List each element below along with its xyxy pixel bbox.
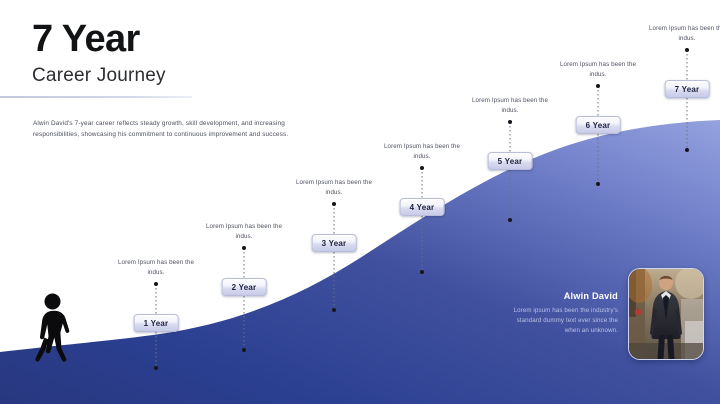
milestone-stem <box>598 86 599 184</box>
milestone-dot-top <box>332 202 336 206</box>
header-block: 7 Year Career Journey <box>32 20 372 85</box>
milestone-3[interactable]: Lorem Ipsum has been the indus. 3 Year <box>288 178 380 310</box>
milestone-5[interactable]: Lorem Ipsum has been the indus. 5 Year <box>464 96 556 220</box>
milestone-badge[interactable]: 1 Year <box>134 314 179 332</box>
milestone-badge[interactable]: 7 Year <box>665 80 710 98</box>
slide-canvas: 7 Year Career Journey Alwin David's 7-ye… <box>0 0 720 404</box>
milestone-2[interactable]: Lorem Ipsum has been the indus. 2 Year <box>198 222 290 342</box>
milestone-note: Lorem Ipsum has been the indus. <box>464 96 556 116</box>
milestone-dot-top <box>596 84 600 88</box>
walking-person-icon <box>34 292 72 371</box>
profile-text-block: Alwin David Lorem ipsum has been the ind… <box>506 291 628 337</box>
milestone-note: Lorem Ipsum has been the indus. <box>110 258 202 278</box>
milestone-stem <box>244 248 245 350</box>
milestone-badge[interactable]: 3 Year <box>312 234 357 252</box>
milestone-dot-bottom <box>332 308 336 312</box>
milestone-dot-bottom <box>508 218 512 222</box>
milestone-dot-bottom <box>685 148 689 152</box>
milestone-dot-top <box>242 246 246 250</box>
intro-paragraph: Alwin David's 7-year career reflects ste… <box>33 118 291 140</box>
milestone-dot-bottom <box>596 182 600 186</box>
milestone-note: Lorem Ipsum has been the indus. <box>288 178 380 198</box>
milestone-note: Lorem Ipsum has been the indus. <box>641 24 720 44</box>
milestone-badge[interactable]: 5 Year <box>488 152 533 170</box>
page-title: 7 Year <box>32 20 372 58</box>
milestone-stem <box>510 122 511 220</box>
milestone-1[interactable]: Lorem Ipsum has been the indus. 1 Year <box>110 258 202 368</box>
profile-name: Alwin David <box>506 291 618 301</box>
milestone-dot-top <box>420 166 424 170</box>
milestone-dot-bottom <box>154 366 158 370</box>
milestone-note: Lorem Ipsum has been the indus. <box>198 222 290 242</box>
milestone-dot-top <box>685 48 689 52</box>
milestone-stem <box>334 204 335 310</box>
milestone-7[interactable]: Lorem Ipsum has been the indus. 7 Year <box>641 24 720 150</box>
milestone-stem <box>687 50 688 150</box>
milestone-dot-bottom <box>420 270 424 274</box>
milestone-badge[interactable]: 2 Year <box>222 278 267 296</box>
milestone-dot-top <box>508 120 512 124</box>
milestone-note: Lorem Ipsum has been the indus. <box>376 142 468 162</box>
profile-description: Lorem ipsum has been the industry's stan… <box>506 306 618 336</box>
milestone-stem <box>422 168 423 272</box>
milestone-dot-bottom <box>242 348 246 352</box>
milestone-badge[interactable]: 4 Year <box>400 198 445 216</box>
milestone-note: Lorem Ipsum has been the indus. <box>552 60 644 80</box>
milestone-dot-top <box>154 282 158 286</box>
header-divider <box>0 96 192 98</box>
profile-card: Alwin David Lorem ipsum has been the ind… <box>452 262 704 366</box>
profile-photo <box>628 268 704 360</box>
page-subtitle: Career Journey <box>32 66 372 85</box>
milestone-badge[interactable]: 6 Year <box>576 116 621 134</box>
milestone-6[interactable]: Lorem Ipsum has been the indus. 6 Year <box>552 60 644 184</box>
milestone-4[interactable]: Lorem Ipsum has been the indus. 4 Year <box>376 142 468 272</box>
